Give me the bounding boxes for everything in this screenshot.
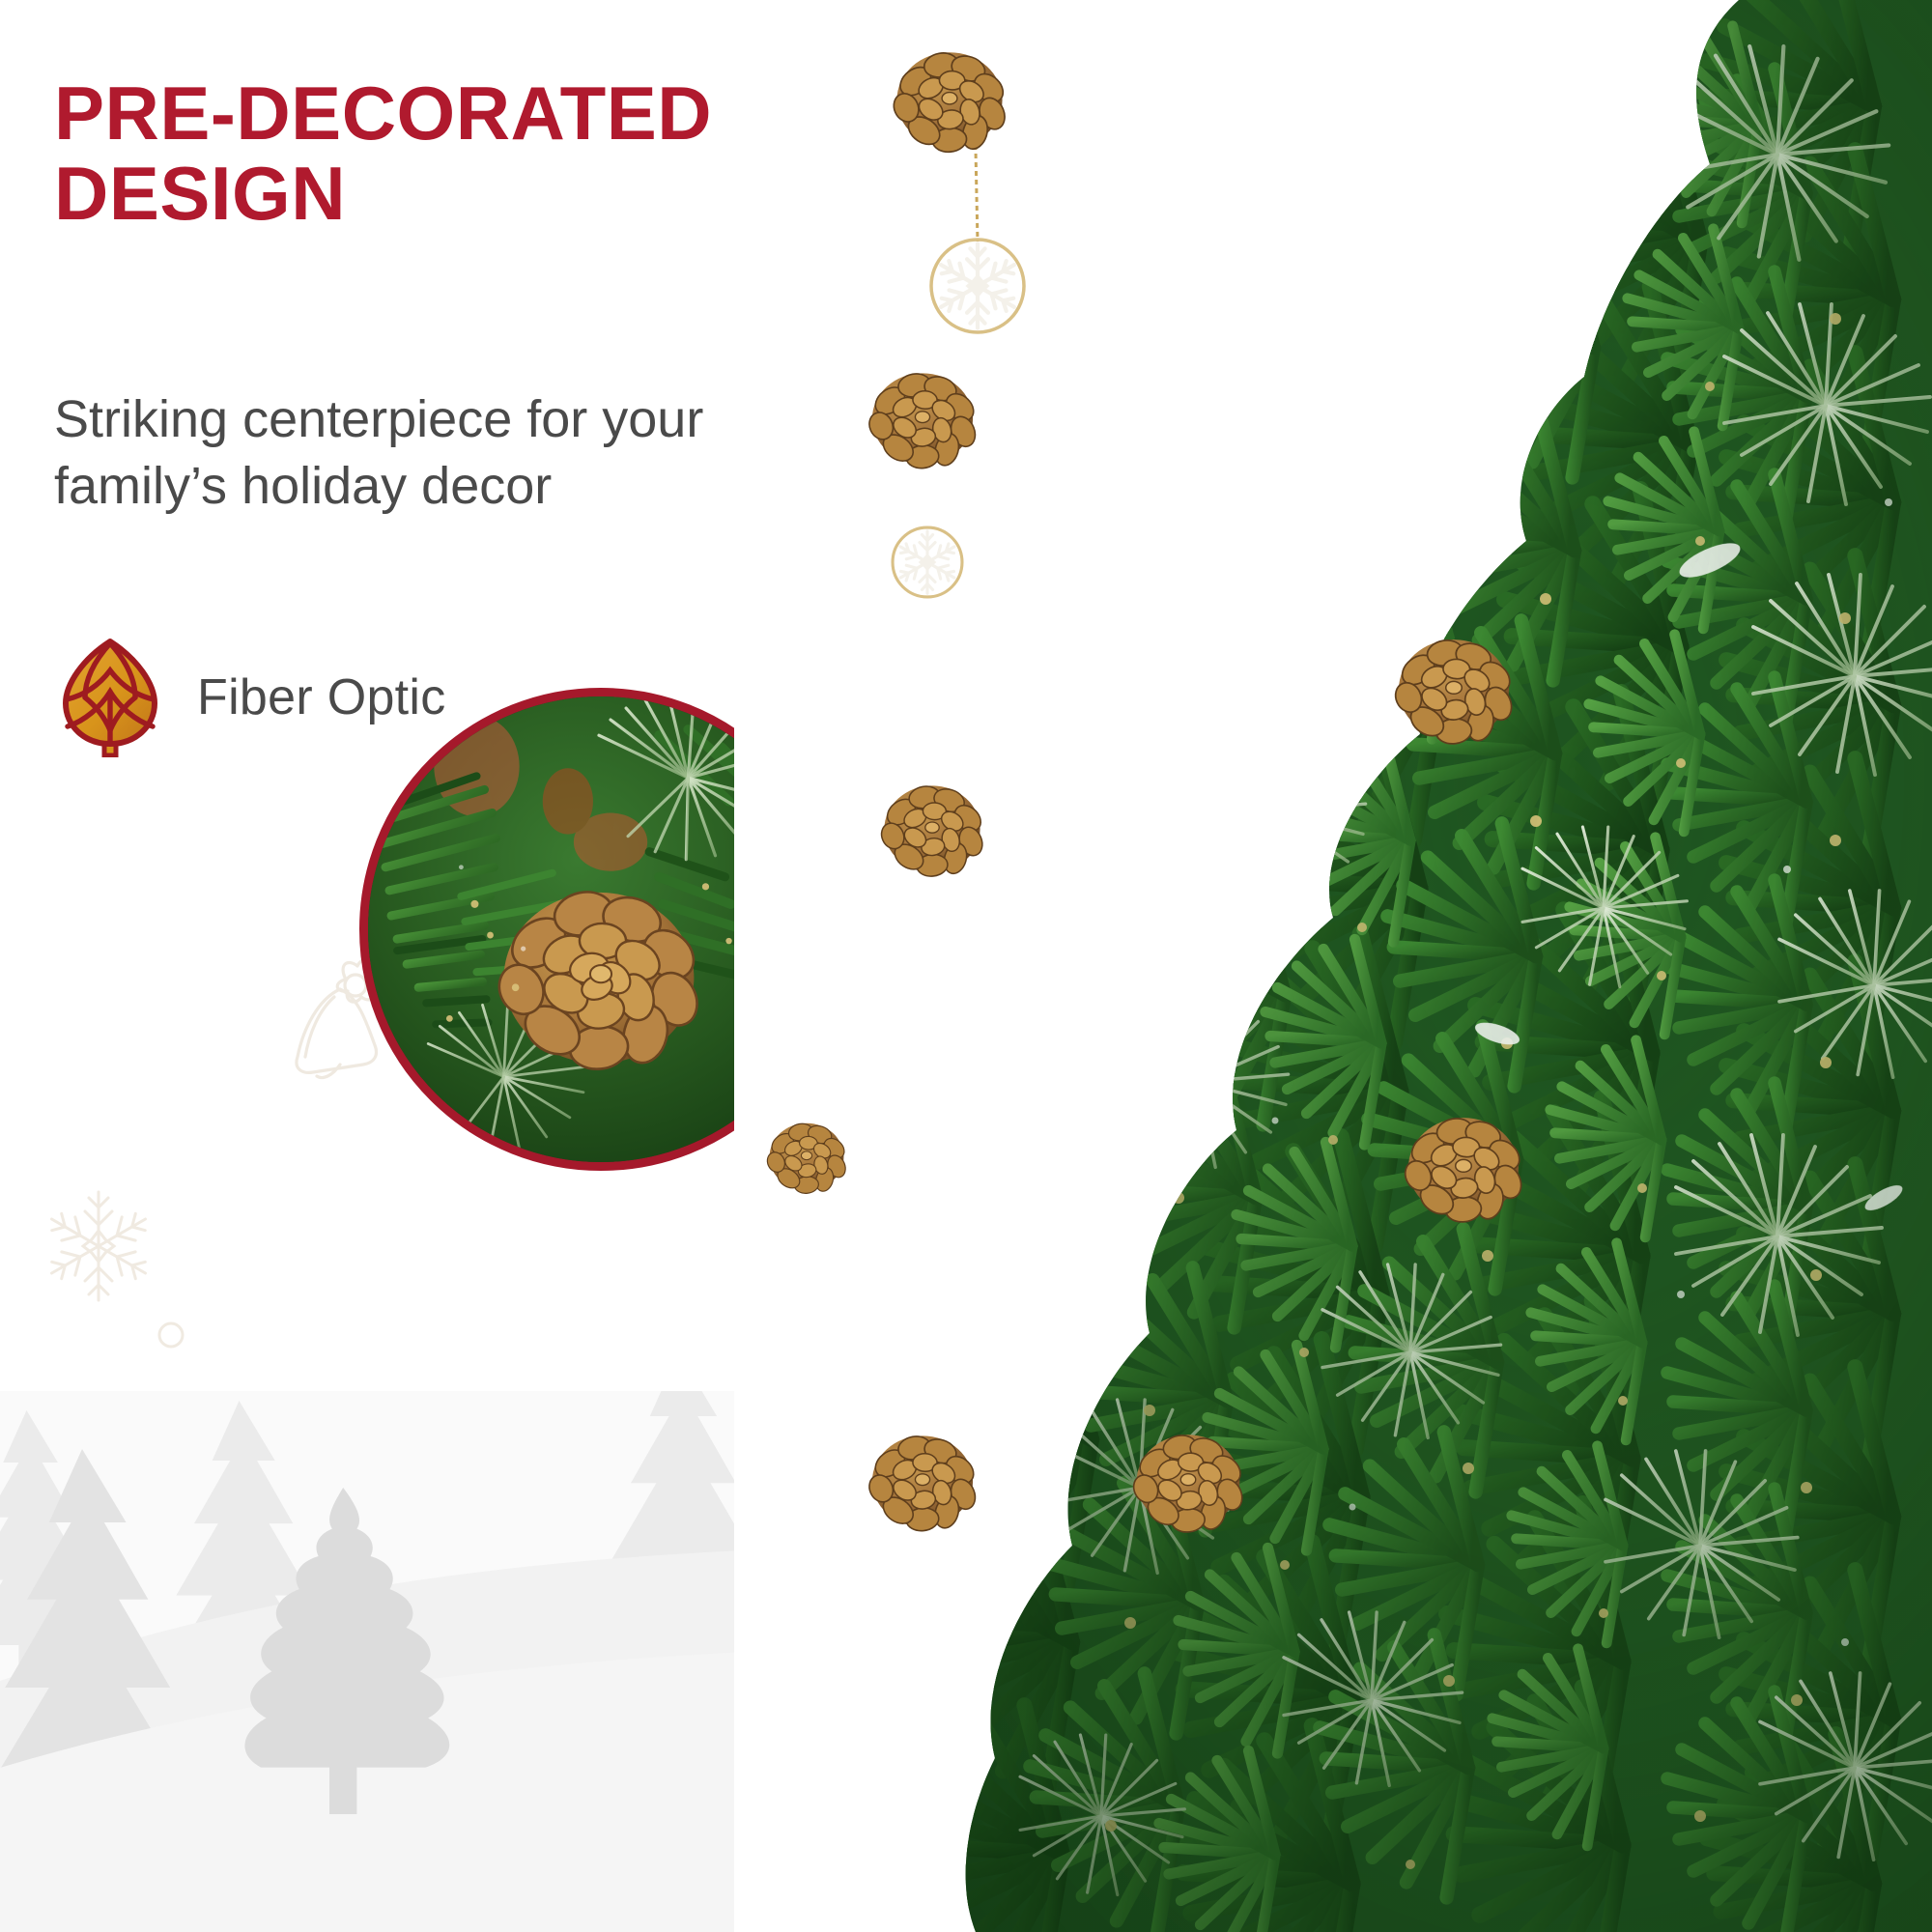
pinecone-icon xyxy=(54,638,166,757)
feature-badge: Fiber Optic xyxy=(54,638,446,757)
pre-decorated-christmas-tree-photo xyxy=(734,0,1932,1932)
subtitle: Striking centerpiece for your family’s h… xyxy=(54,386,817,519)
feature-label: Fiber Optic xyxy=(197,668,446,726)
product-marketing-banner: PRE-DECORATED DESIGN Striking centerpiec… xyxy=(0,0,1932,1932)
snowflake-watermark xyxy=(39,1190,203,1378)
